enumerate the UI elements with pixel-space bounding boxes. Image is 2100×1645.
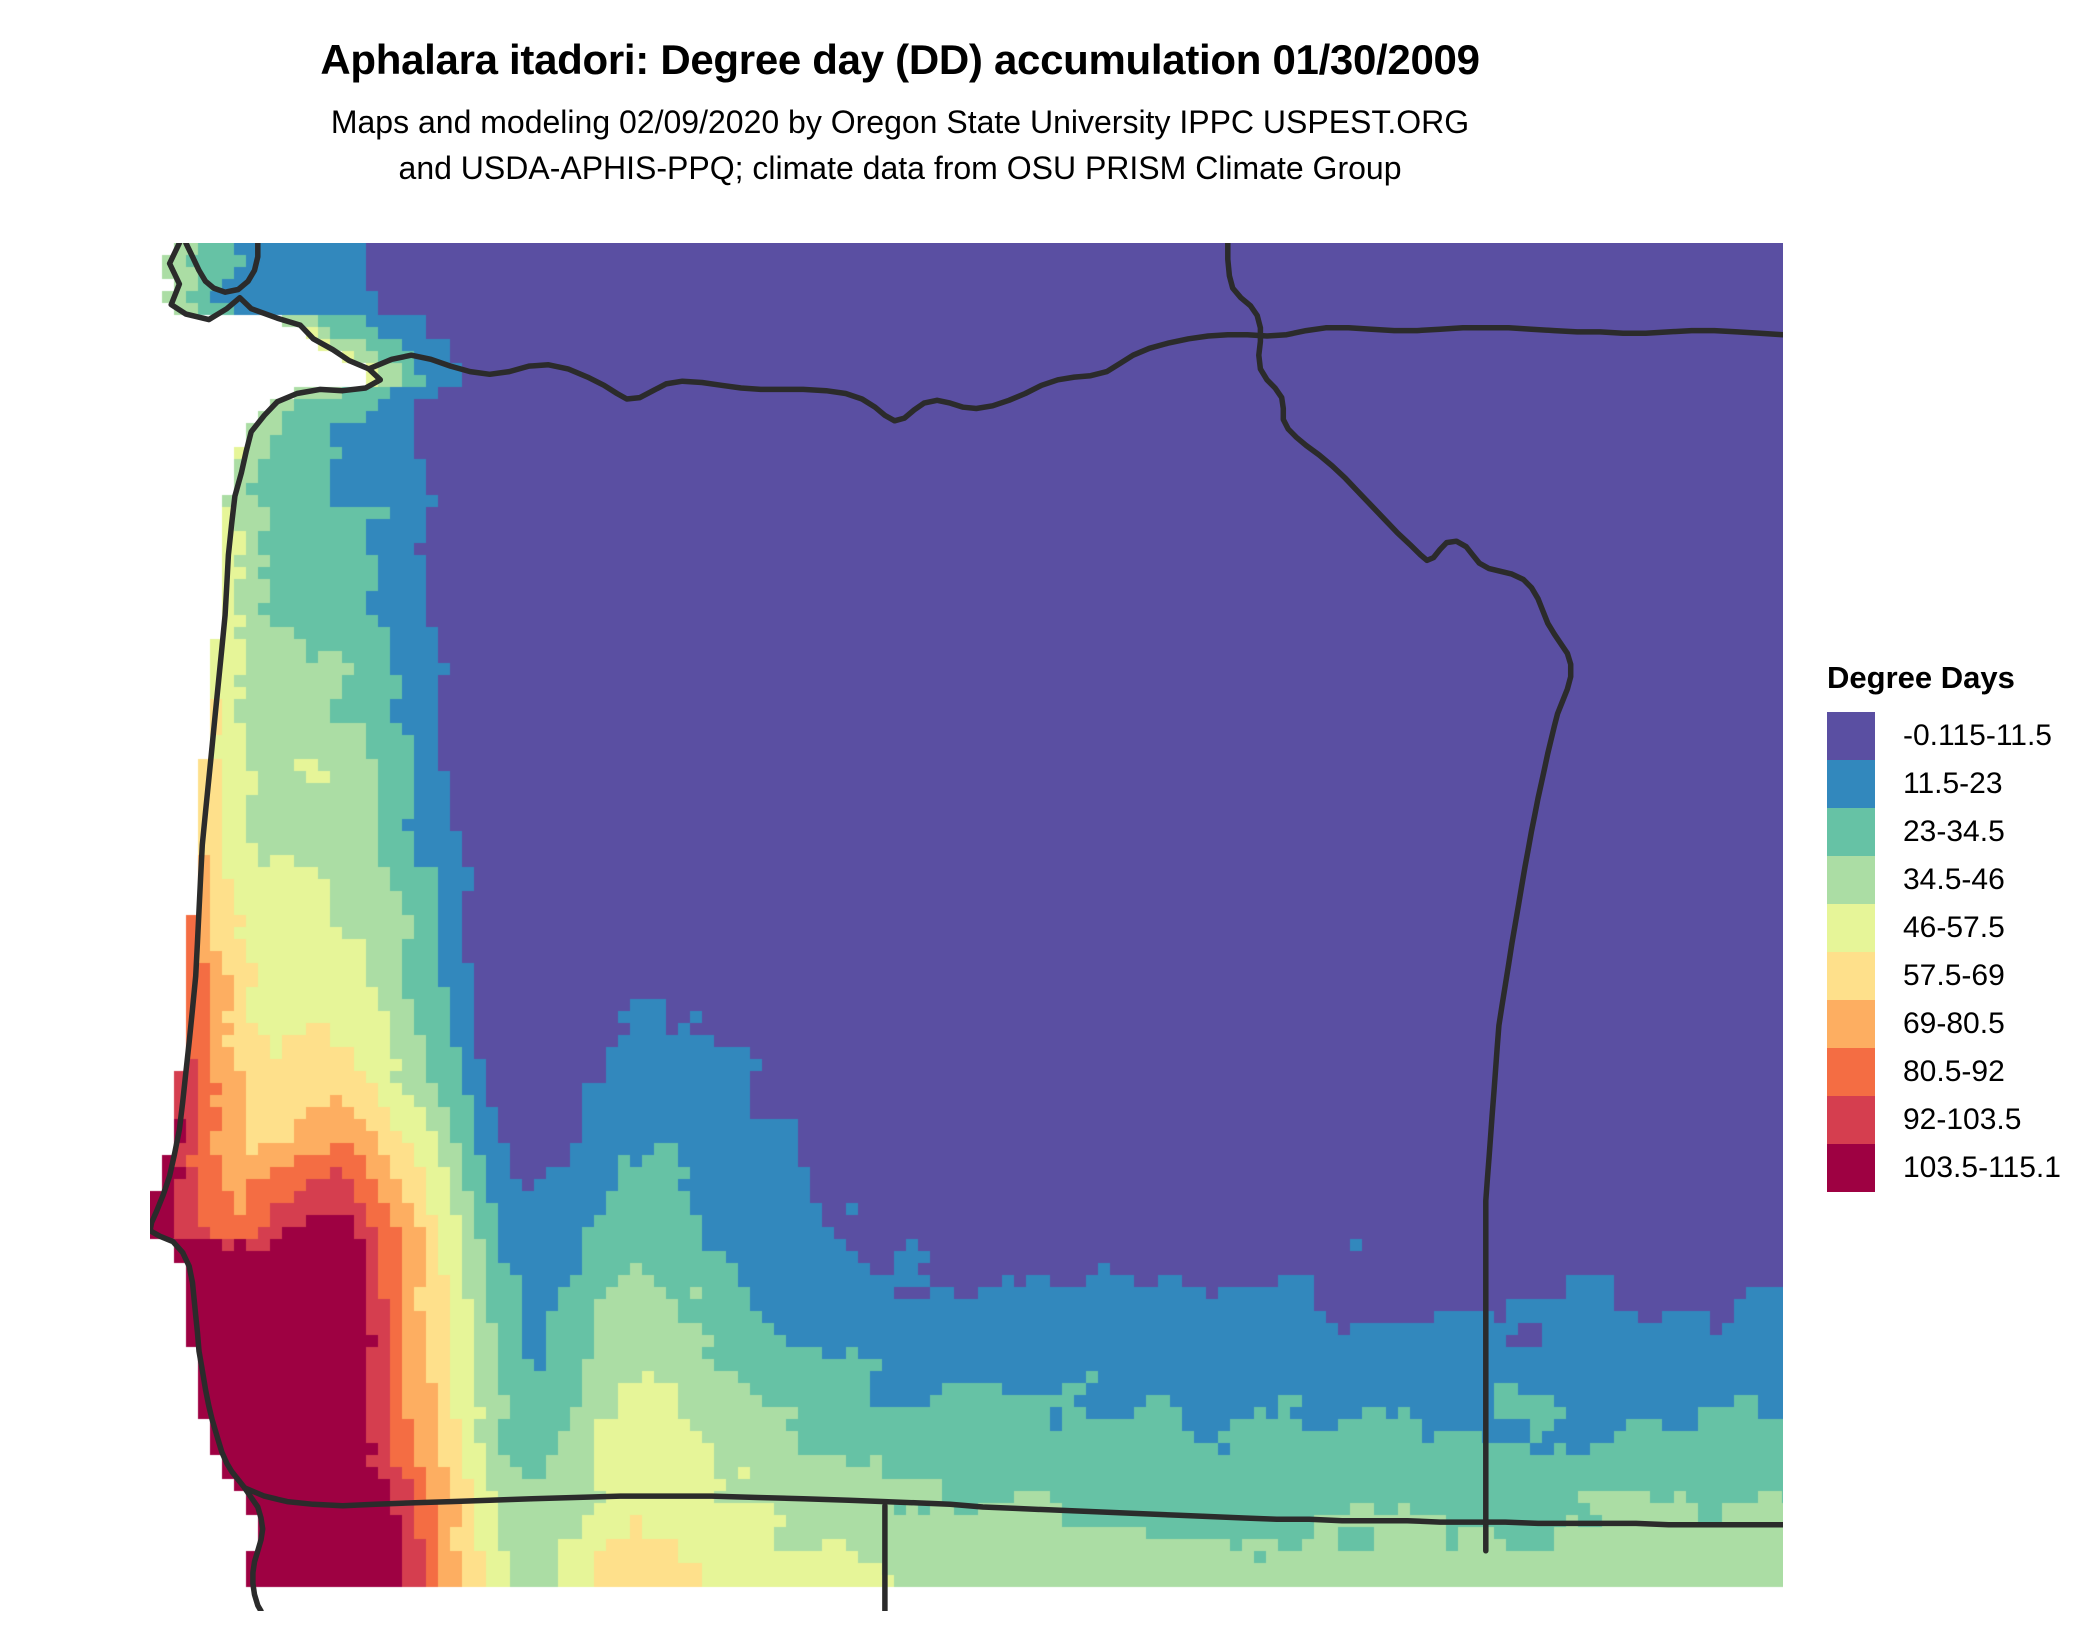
legend-label: 69-80.5 [1903, 1009, 2005, 1039]
legend-swatch [1827, 1048, 1875, 1096]
legend-title: Degree Days [1827, 660, 2087, 696]
legend-swatch [1827, 1096, 1875, 1144]
legend-label: 23-34.5 [1903, 817, 2005, 847]
southern-state-border [245, 1488, 1783, 1525]
legend-label: 92-103.5 [1903, 1105, 2021, 1135]
legend-item: 23-34.5 [1827, 808, 2087, 856]
legend-swatch [1827, 1000, 1875, 1048]
legend-swatch [1827, 808, 1875, 856]
legend-swatch [1827, 952, 1875, 1000]
legend-swatch [1827, 1144, 1875, 1192]
legend-item: 80.5-92 [1827, 1048, 2087, 1096]
legend-swatch [1827, 760, 1875, 808]
legend-rows: -0.115-11.511.5-2323-34.534.5-4646-57.55… [1827, 712, 2087, 1192]
legend-label: 34.5-46 [1903, 865, 2005, 895]
map-boundaries [150, 243, 1783, 1611]
coastline [150, 243, 380, 1611]
map-page: Aphalara itadori: Degree day (DD) accumu… [0, 0, 2100, 1645]
legend: Degree Days -0.115-11.511.5-2323-34.534.… [1827, 660, 2087, 1192]
page-title: Aphalara itadori: Degree day (DD) accumu… [0, 36, 1800, 84]
legend-swatch [1827, 904, 1875, 952]
legend-item: -0.115-11.5 [1827, 712, 2087, 760]
legend-item: 34.5-46 [1827, 856, 2087, 904]
title-block: Aphalara itadori: Degree day (DD) accumu… [0, 36, 1800, 191]
legend-item: 103.5-115.1 [1827, 1144, 2087, 1192]
legend-label: 57.5-69 [1903, 961, 2005, 991]
legend-item: 46-57.5 [1827, 904, 2087, 952]
legend-label: 11.5-23 [1903, 769, 2003, 799]
page-subtitle: Maps and modeling 02/09/2020 by Oregon S… [0, 100, 1800, 191]
legend-label: 103.5-115.1 [1903, 1153, 2061, 1183]
legend-swatch [1827, 856, 1875, 904]
eastern-state-border [1228, 243, 1571, 1551]
legend-swatch [1827, 712, 1875, 760]
columbia-river-border [369, 328, 1783, 421]
legend-item: 57.5-69 [1827, 952, 2087, 1000]
legend-item: 11.5-23 [1827, 760, 2087, 808]
legend-item: 69-80.5 [1827, 1000, 2087, 1048]
map-figure[interactable] [150, 243, 1783, 1611]
legend-label: -0.115-11.5 [1903, 721, 2052, 751]
legend-item: 92-103.5 [1827, 1096, 2087, 1144]
north-coast-inlet [186, 243, 258, 292]
legend-label: 46-57.5 [1903, 913, 2005, 943]
legend-label: 80.5-92 [1903, 1057, 2005, 1087]
